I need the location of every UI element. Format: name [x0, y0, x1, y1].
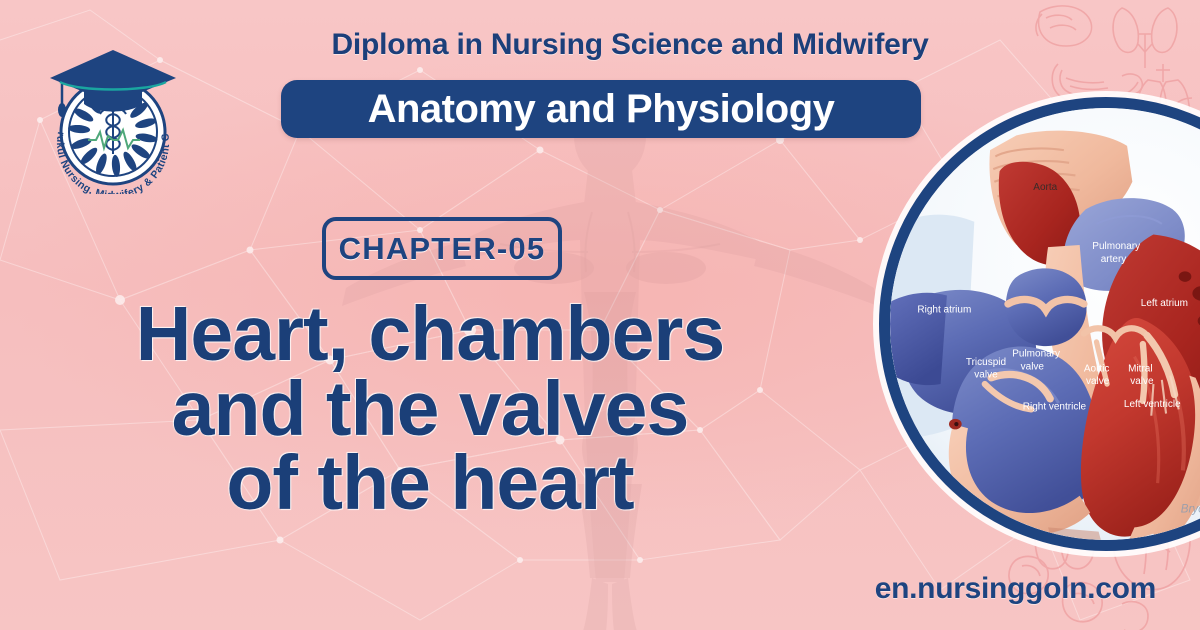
course-banner: Gurukul Nursing, Midwifery & Patient Car…: [0, 0, 1200, 630]
chapter-label: CHAPTER-05: [339, 231, 546, 267]
label-aortic-valve-line2: valve: [1086, 376, 1110, 387]
label-left-ventricle: Left ventricle: [1124, 399, 1181, 410]
subject-badge: Anatomy and Physiology: [281, 80, 921, 138]
chapter-badge: CHAPTER-05: [322, 217, 562, 280]
course-title: Diploma in Nursing Science and Midwifery: [0, 28, 1200, 62]
label-tricuspid-valve-line1: Tricuspid: [966, 357, 1006, 368]
title-line-2: and the valves: [0, 370, 860, 449]
label-aortic-valve-line1: Aortic: [1084, 363, 1110, 374]
title-line-1: Heart, chambers: [0, 295, 860, 374]
page-title: Heart, chambers and the valves of the he…: [0, 295, 860, 523]
title-line-3: of the heart: [0, 444, 860, 523]
label-pulmonary-artery-line2: artery: [1101, 254, 1127, 265]
label-right-atrium: Right atrium: [917, 304, 971, 315]
label-pulmonary-artery-line1: Pulmonary: [1092, 241, 1140, 252]
label-tricuspid-valve-line2: valve: [974, 370, 998, 381]
subject-label: Anatomy and Physiology: [368, 89, 835, 129]
label-left-atrium: Left atrium: [1141, 298, 1188, 309]
label-pulmonary-valve-line2: valve: [1021, 361, 1045, 372]
label-aorta: Aorta: [1033, 182, 1057, 193]
label-mitral-valve-line1: Mitral: [1128, 363, 1152, 374]
label-right-ventricle: Right ventricle: [1023, 401, 1087, 412]
artist-signature: Bryce: [1181, 504, 1200, 516]
label-mitral-valve-line2: valve: [1130, 376, 1154, 387]
heart-cross-section-illustration: Bryce Aorta Pulmonary artery Left atrium…: [890, 108, 1200, 540]
website-url: en.nursinggoln.com: [875, 572, 1156, 606]
label-pulmonary-valve-line1: Pulmonary: [1012, 349, 1060, 360]
gurukul-logo: Gurukul Nursing, Midwifery & Patient Car…: [38, 44, 188, 194]
